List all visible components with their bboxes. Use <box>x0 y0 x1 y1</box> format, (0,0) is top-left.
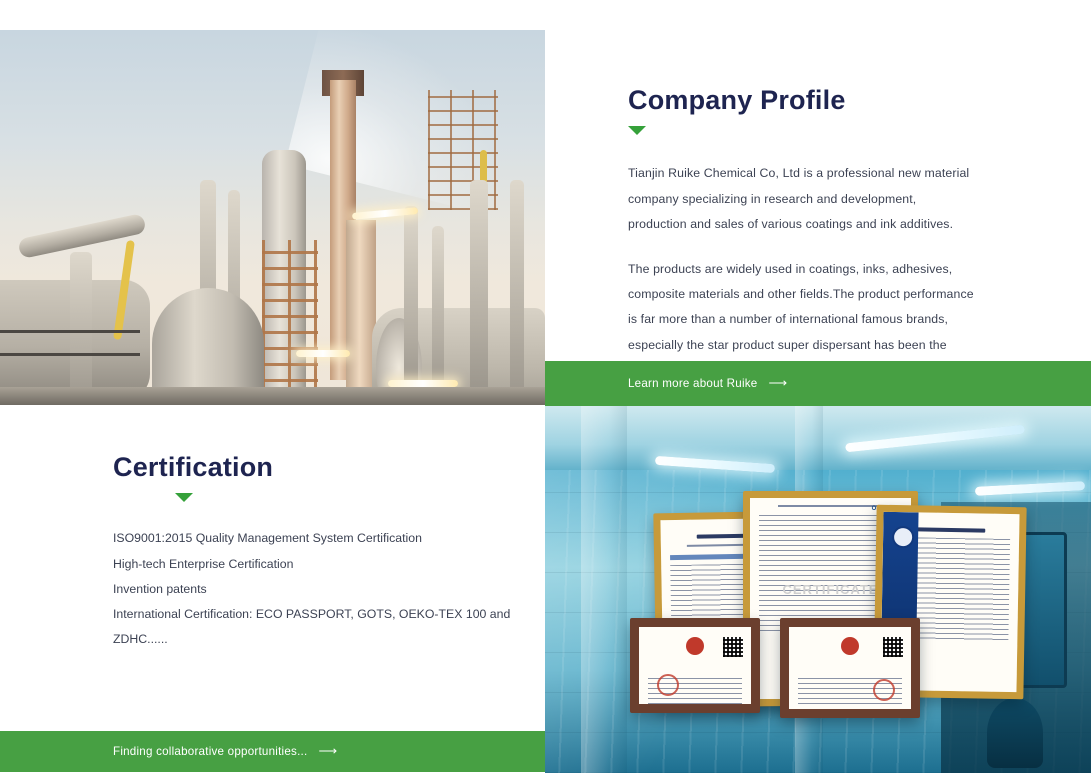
opportunities-label: Finding collaborative opportunities... <box>113 745 307 758</box>
list-item: ISO9001:2015 Quality Management System C… <box>113 526 543 551</box>
triangle-down-icon <box>175 493 193 502</box>
opportunities-link[interactable]: Finding collaborative opportunities... ⟶ <box>113 731 337 772</box>
company-profile-section: Company Profile Tianjin Ruike Chemical C… <box>628 86 978 383</box>
national-emblem-icon <box>841 637 859 655</box>
certification-title: Certification <box>113 453 543 481</box>
pipe <box>432 226 444 405</box>
pipe <box>404 206 418 405</box>
business-license-certificate-left <box>630 618 760 713</box>
ground-strip <box>0 387 545 405</box>
certification-section: Certification ISO9001:2015 Quality Manag… <box>113 453 543 652</box>
handrail <box>0 330 140 356</box>
learn-more-label: Learn more about Ruike <box>628 377 758 390</box>
certification-list: ISO9001:2015 Quality Management System C… <box>113 526 543 652</box>
red-seal-icon <box>657 674 679 696</box>
triangle-down-icon <box>628 126 646 135</box>
business-license-certificate-right <box>780 618 920 718</box>
qr-code-icon <box>723 637 743 657</box>
list-item: High-tech Enterprise Certification <box>113 552 543 577</box>
framed-certificates-photo: OEKO‑TEX CERTIFICATE <box>545 406 1091 773</box>
pipe <box>510 180 524 405</box>
list-item: International Certification: ECO PASSPOR… <box>113 602 543 627</box>
license-document <box>639 627 751 704</box>
pipe <box>470 180 488 405</box>
arrow-right-icon: ⟶ <box>318 744 337 757</box>
page-root: Company Profile Tianjin Ruike Chemical C… <box>0 0 1091 773</box>
pipe <box>70 252 92 405</box>
license-document <box>789 627 911 709</box>
work-light <box>296 350 350 357</box>
profile-paragraph-1: Tianjin Ruike Chemical Co, Ltd is a prof… <box>628 161 978 237</box>
pillar <box>581 406 627 773</box>
arrow-right-icon: ⟶ <box>769 376 788 389</box>
qr-code-icon <box>883 637 903 657</box>
page-title: Company Profile <box>628 86 978 114</box>
document-heading-bar <box>917 527 985 532</box>
learn-more-band[interactable]: Learn more about Ruike ⟶ <box>545 361 1091 406</box>
opportunities-band[interactable]: Finding collaborative opportunities... ⟶ <box>0 731 545 772</box>
national-emblem-icon <box>686 637 704 655</box>
list-item: ZDHC...... <box>113 627 543 652</box>
list-item: Invention patents <box>113 577 543 602</box>
work-light <box>388 380 458 387</box>
document-subheading-bar <box>778 505 884 507</box>
learn-more-link[interactable]: Learn more about Ruike ⟶ <box>628 361 787 406</box>
industrial-chemical-plant-photo <box>0 30 545 405</box>
scaffold-lattice <box>262 240 318 405</box>
red-seal-icon <box>873 679 895 701</box>
